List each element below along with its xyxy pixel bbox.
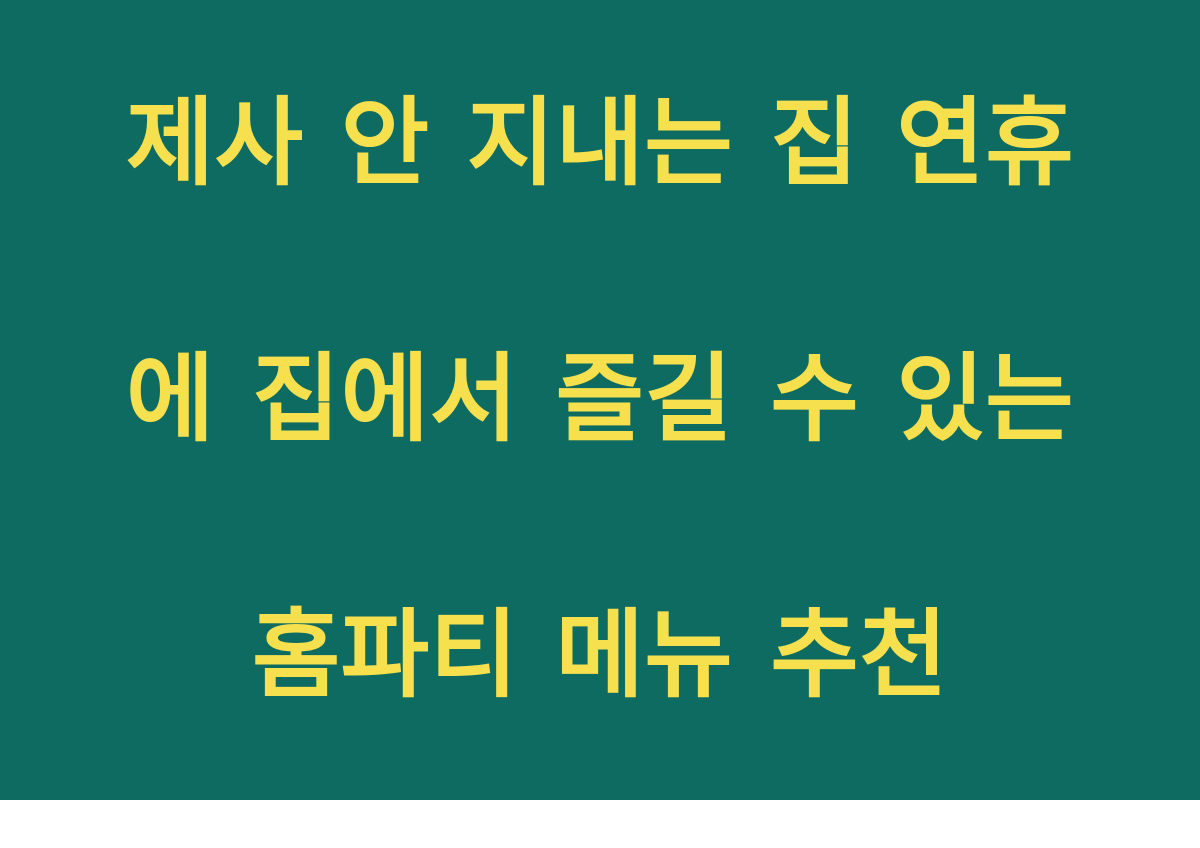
page-title: 제사 안 지내는 집 연휴 에 집에서 즐길 수 있는 홈파티 메뉴 추천 (95, 0, 1105, 848)
headline-line-1: 제사 안 지내는 집 연휴 (95, 80, 1105, 208)
headline-line-2: 에 집에서 즐길 수 있는 (95, 336, 1105, 464)
banner-card: 제사 안 지내는 집 연휴 에 집에서 즐길 수 있는 홈파티 메뉴 추천 (0, 0, 1200, 800)
headline-line-3: 홈파티 메뉴 추천 (95, 592, 1105, 720)
